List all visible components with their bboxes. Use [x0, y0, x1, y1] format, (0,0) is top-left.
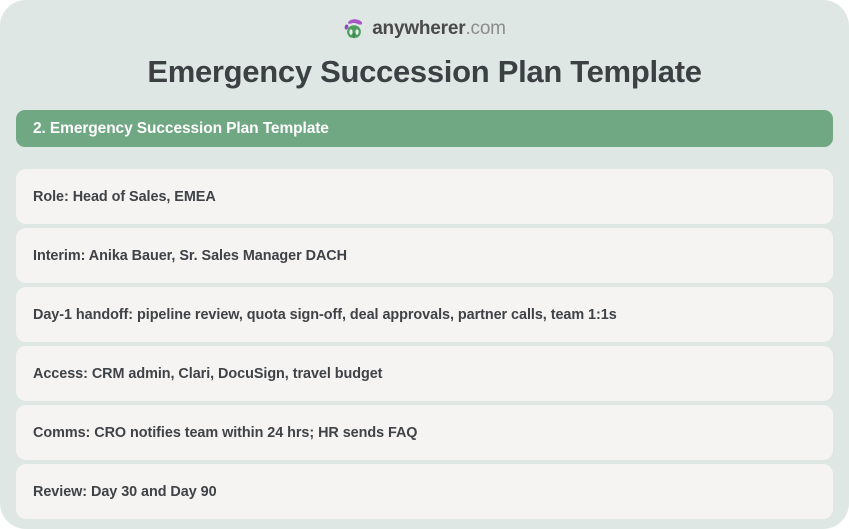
- table-row-value: pipeline review, quota sign-off, deal ap…: [137, 307, 617, 323]
- table-row-content: Access: CRM admin, Clari, DocuSign, trav…: [33, 366, 382, 382]
- table-row: Access: CRM admin, Clari, DocuSign, trav…: [16, 346, 833, 401]
- table-row-label: Interim:: [33, 248, 85, 264]
- table-row: Review: Day 30 and Day 90: [16, 464, 833, 519]
- table-row: Interim: Anika Bauer, Sr. Sales Manager …: [16, 228, 833, 283]
- brand-logo: anywherer.com: [0, 17, 849, 41]
- table-row-value: CRM admin, Clari, DocuSign, travel budge…: [92, 366, 383, 382]
- table-section-header-label: 2. Emergency Succession Plan Template: [33, 120, 329, 138]
- globe-logo-icon: [343, 18, 365, 40]
- table-row-label: Comms:: [33, 425, 90, 441]
- page-panel: anywherer.com Emergency Succession Plan …: [0, 0, 849, 529]
- table-row-value: CRO notifies team within 24 hrs; HR send…: [94, 425, 417, 441]
- table-row-label: Review:: [33, 484, 87, 500]
- table-row-content: Review: Day 30 and Day 90: [33, 484, 217, 500]
- table-row-label: Day-1 handoff:: [33, 307, 133, 323]
- table-row-content: Interim: Anika Bauer, Sr. Sales Manager …: [33, 248, 347, 264]
- table-row-label: Access:: [33, 366, 88, 382]
- table-row: Role: Head of Sales, EMEA: [16, 169, 833, 224]
- table-row-content: Day-1 handoff: pipeline review, quota si…: [33, 307, 617, 323]
- table-row-value: Day 30 and Day 90: [91, 484, 217, 500]
- table-row: Day-1 handoff: pipeline review, quota si…: [16, 287, 833, 342]
- brand-name: anywherer: [372, 18, 465, 39]
- page-title: Emergency Succession Plan Template: [0, 53, 849, 91]
- brand-wordmark: anywherer.com: [372, 18, 506, 40]
- table-section-header: 2. Emergency Succession Plan Template: [16, 110, 833, 147]
- table-row-content: Comms: CRO notifies team within 24 hrs; …: [33, 425, 417, 441]
- table-row-value: Anika Bauer, Sr. Sales Manager DACH: [89, 248, 347, 264]
- brand-tld: .com: [465, 18, 505, 39]
- table-row-value: Head of Sales, EMEA: [73, 189, 216, 205]
- table-row: Comms: CRO notifies team within 24 hrs; …: [16, 405, 833, 460]
- succession-plan-table: 2. Emergency Succession Plan Template Ro…: [16, 110, 833, 523]
- table-row-label: Role:: [33, 189, 69, 205]
- table-row-content: Role: Head of Sales, EMEA: [33, 189, 216, 205]
